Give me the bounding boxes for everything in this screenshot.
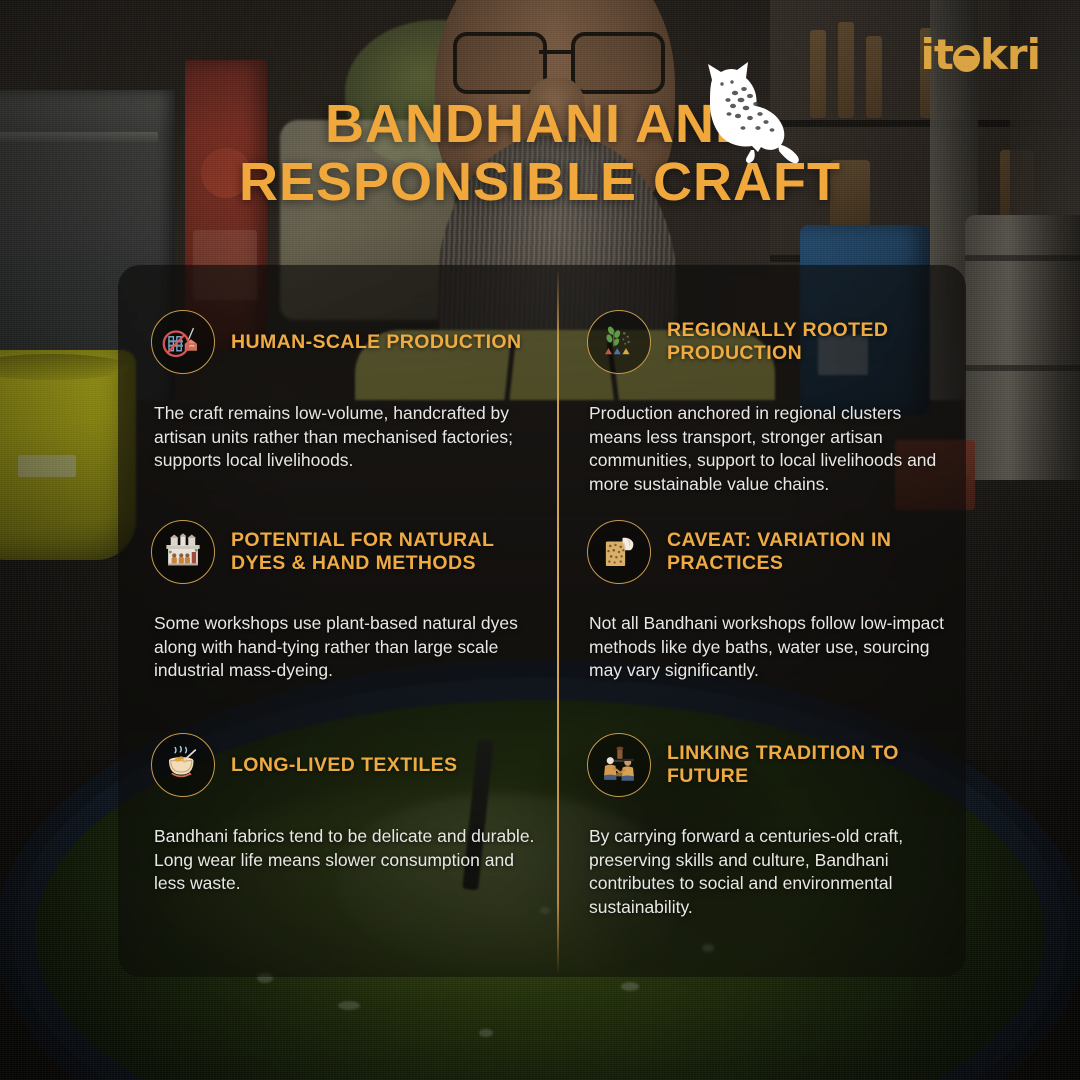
page-title: BANDHANI AND RESPONSIBLE CRAFT <box>0 96 1080 212</box>
feature-item-linking-tradition-to-future: LINKING TRADITION TO FUTURE By carrying … <box>557 685 966 915</box>
feature-item-long-lived-textiles: LONG-LIVED TEXTILES Bandhani fabrics ten… <box>118 685 557 915</box>
title-line-2: RESPONSIBLE CRAFT <box>0 154 1080 212</box>
feature-grid: HUMAN-SCALE PRODUCTION The craft remains… <box>118 265 966 977</box>
feature-heading: HUMAN-SCALE PRODUCTION <box>231 331 521 354</box>
brand-logo[interactable]: itkri <box>920 34 1040 76</box>
two-artisans-icon <box>587 733 651 797</box>
feature-body: By carrying forward a centuries-old craf… <box>589 825 946 920</box>
feature-body: Not all Bandhani workshops follow low-im… <box>589 612 946 683</box>
feature-heading: REGIONALLY ROOTED PRODUCTION <box>667 319 946 364</box>
infographic-canvas: itkri BANDHANI AND RESPONSIBLE CRAFT <box>0 0 1080 1080</box>
feature-item-caveat-variation-in-practices: CAVEAT: VARIATION IN PRACTICES Not all B… <box>557 475 966 685</box>
steaming-dye-pot-icon <box>151 733 215 797</box>
title-line-1: BANDHANI AND <box>0 96 1080 154</box>
feature-heading: POTENTIAL FOR NATURAL DYES & HAND METHOD… <box>231 529 539 574</box>
feature-item-regionally-rooted-production: REGIONALLY ROOTED PRODUCTION Production … <box>557 265 966 475</box>
feature-heading: LINKING TRADITION TO FUTURE <box>667 742 946 787</box>
no-factory-icon <box>151 310 215 374</box>
plant-dye-powders-icon <box>587 310 651 374</box>
feature-heading: LONG-LIVED TEXTILES <box>231 754 457 777</box>
feature-body: The craft remains low-volume, handcrafte… <box>154 402 539 473</box>
logo-basket-icon <box>953 45 980 72</box>
logo-text-it: it <box>920 30 952 79</box>
spotted-cat-icon <box>688 58 806 166</box>
feature-item-human-scale-production: HUMAN-SCALE PRODUCTION The craft remains… <box>118 265 557 475</box>
feature-heading: CAVEAT: VARIATION IN PRACTICES <box>667 529 946 574</box>
artisan-workshop-icon <box>151 520 215 584</box>
logo-text-kri: kri <box>980 30 1040 79</box>
feature-body: Bandhani fabrics tend to be delicate and… <box>154 825 539 896</box>
feature-item-natural-dyes-hand-methods: POTENTIAL FOR NATURAL DYES & HAND METHOD… <box>118 475 557 685</box>
hand-holding-fabric-icon <box>587 520 651 584</box>
feature-body: Some workshops use plant-based natural d… <box>154 612 539 683</box>
